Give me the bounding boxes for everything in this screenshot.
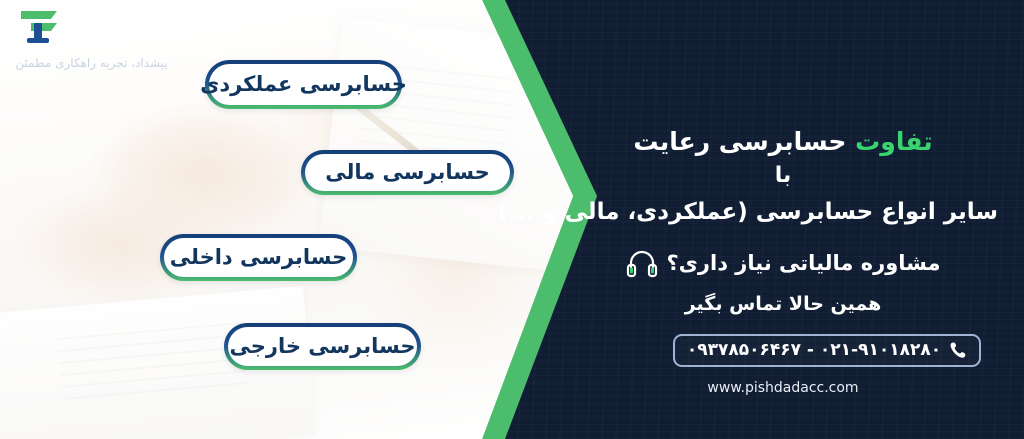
audit-type-pill-performance[interactable]: حسابرسی عملکردی xyxy=(205,60,402,109)
promo-banner: حسابرسی عملکردی حسابرسی مالی حسابرسی داخ… xyxy=(0,0,1024,439)
pill-label: حسابرسی خارجی xyxy=(229,336,415,357)
headline-accent-word: تفاوت xyxy=(855,127,932,156)
headline-line-3: سایر انواع حسابرسی (عملکردی، مالی و ...) xyxy=(568,199,998,227)
brand-tagline: پیشداد، تجربه راهکاری مطمئن xyxy=(4,57,179,69)
pill-label: حسابرسی مالی xyxy=(325,162,490,183)
phone-numbers: ۰۲۱-۹۱۰۱۸۲۸۰ - ۰۹۳۷۸۵۰۶۴۶۷ xyxy=(687,342,941,359)
phone-icon xyxy=(950,341,967,360)
pill-label: حسابرسی عملکردی xyxy=(200,74,407,95)
phone-numbers-box[interactable]: ۰۲۱-۹۱۰۱۸۲۸۰ - ۰۹۳۷۸۵۰۶۴۶۷ xyxy=(673,334,981,367)
consultation-row: مشاوره مالیاتی نیاز داری؟ xyxy=(568,248,998,278)
pishdad-logo-mark-icon xyxy=(17,6,61,46)
brand-name: پیشداد xyxy=(69,11,166,41)
headline-line-1: تفاوت حسابرسی رعایت xyxy=(568,126,998,157)
audit-type-pill-external[interactable]: حسابرسی خارجی xyxy=(224,323,421,370)
brand-logo[interactable]: پیشداد پیشداد، تجربه راهکاری مطمئن xyxy=(4,6,179,69)
logo-row: پیشداد xyxy=(4,6,179,46)
audit-type-pill-internal[interactable]: حسابرسی داخلی xyxy=(160,234,357,281)
pill-label: حسابرسی داخلی xyxy=(170,247,347,268)
headline-rest: حسابرسی رعایت xyxy=(633,127,846,156)
consultation-text: مشاوره مالیاتی نیاز داری؟ xyxy=(667,253,941,274)
right-content-panel: تفاوت حسابرسی رعایت با سایر انواع حسابرس… xyxy=(568,0,998,439)
headset-icon xyxy=(626,248,658,278)
headline-line-2: با xyxy=(568,163,998,189)
call-now-text: همین حالا تماس بگیر xyxy=(568,295,998,314)
audit-type-pill-financial[interactable]: حسابرسی مالی xyxy=(301,150,514,195)
website-url[interactable]: www.pishdadacc.com xyxy=(568,381,998,395)
